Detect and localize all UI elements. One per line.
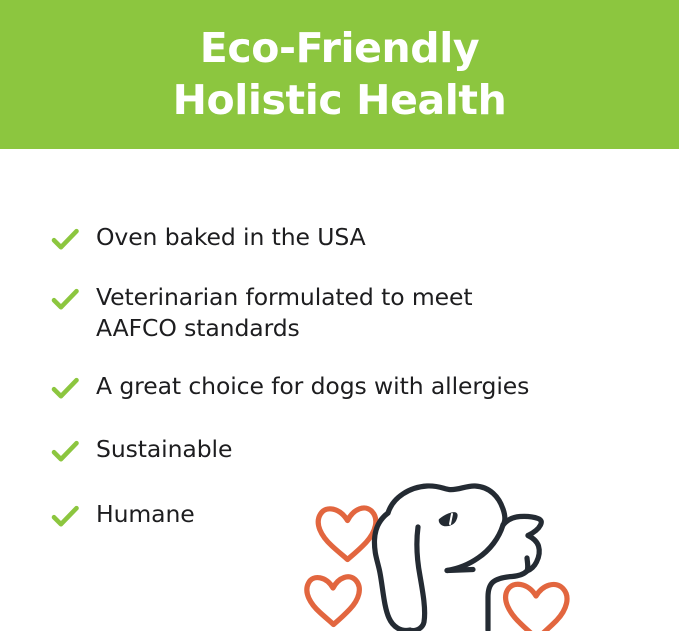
list-item-label: Oven baked in the USA [96, 222, 366, 253]
check-icon [50, 374, 80, 404]
feature-list: Oven baked in the USA Veterinarian formu… [50, 222, 650, 532]
list-item-label: Humane [96, 499, 195, 530]
check-icon [50, 502, 80, 532]
check-icon [50, 225, 80, 255]
check-icon [50, 285, 80, 315]
list-item: A great choice for dogs with allergies [50, 371, 650, 404]
heart-bottom-right-icon [506, 584, 567, 631]
list-item: Sustainable [50, 434, 650, 467]
check-icon [50, 437, 80, 467]
list-item: Humane [50, 499, 650, 532]
heart-bottom-left-icon [307, 577, 360, 625]
list-item: Oven baked in the USA [50, 222, 650, 255]
product-feature-card: Eco-Friendly Holistic Health Oven baked … [0, 0, 679, 631]
header-title-line-1: Eco-Friendly [200, 23, 479, 75]
header-banner: Eco-Friendly Holistic Health [0, 0, 679, 149]
header-title-line-2: Holistic Health [173, 75, 507, 127]
list-item: Veterinarian formulated to meet AAFCO st… [50, 282, 650, 345]
list-item-label: Veterinarian formulated to meet AAFCO st… [96, 282, 472, 345]
list-item-label: A great choice for dogs with allergies [96, 371, 529, 402]
list-item-label: Sustainable [96, 434, 232, 465]
